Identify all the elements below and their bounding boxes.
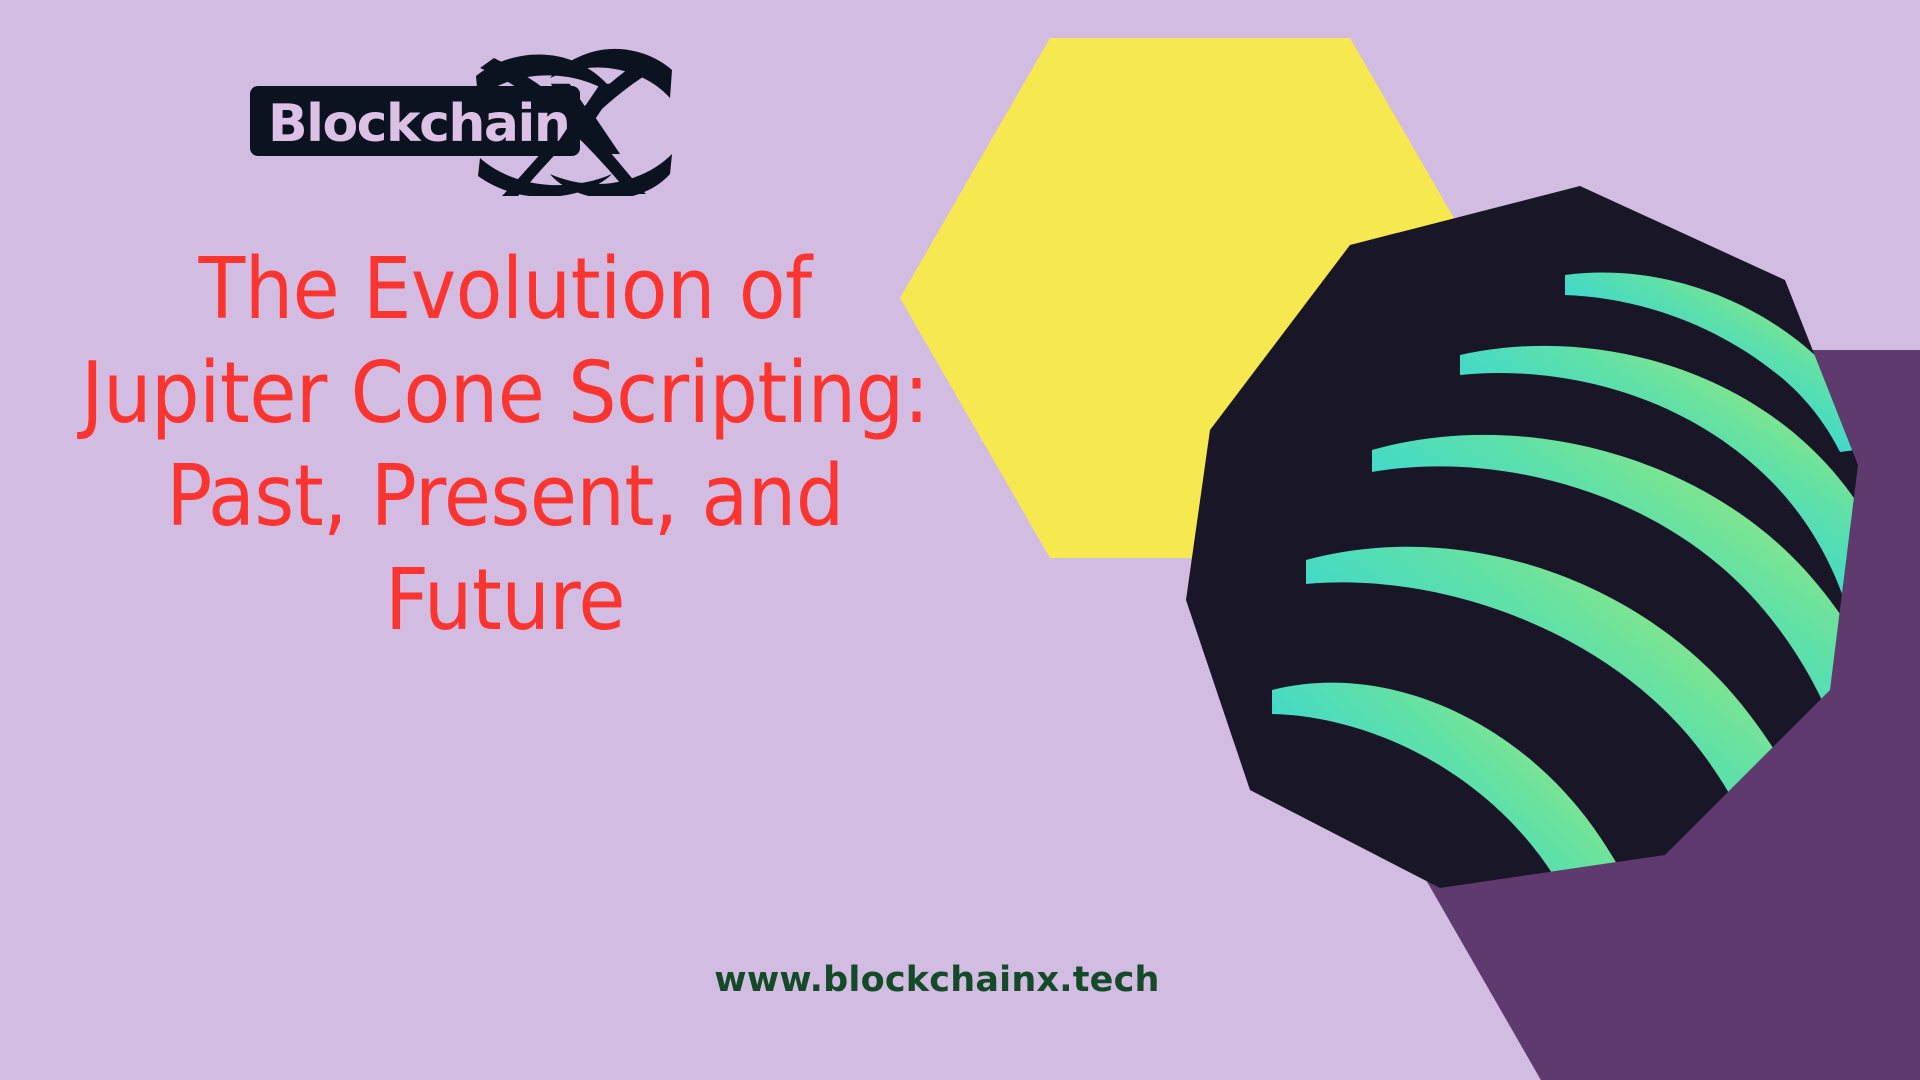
jupiter-logo-octagon: [1186, 186, 1858, 888]
content-column: Blockchain X The Evolution of Jupiter Co…: [0, 0, 1010, 1080]
page-title: The Evolution of Jupiter Cone Scripting:…: [65, 238, 945, 653]
website-url[interactable]: www.blockchainx.tech: [0, 960, 1897, 1000]
blog-banner: Blockchain X The Evolution of Jupiter Co…: [0, 0, 1920, 1080]
jupiter-stripe-3: [1372, 435, 1910, 798]
jupiter-stripe-1: [1565, 272, 1878, 452]
logo-x-letter: X: [548, 65, 622, 177]
jupiter-logo: [1186, 186, 1910, 1080]
brand-logo[interactable]: Blockchain X: [242, 46, 692, 196]
jupiter-stripe-5: [1272, 683, 1690, 1080]
logo-wordmark: Blockchain: [268, 94, 569, 154]
jupiter-stripe-4: [1306, 547, 1848, 962]
jupiter-stripe-2: [1460, 346, 1900, 612]
